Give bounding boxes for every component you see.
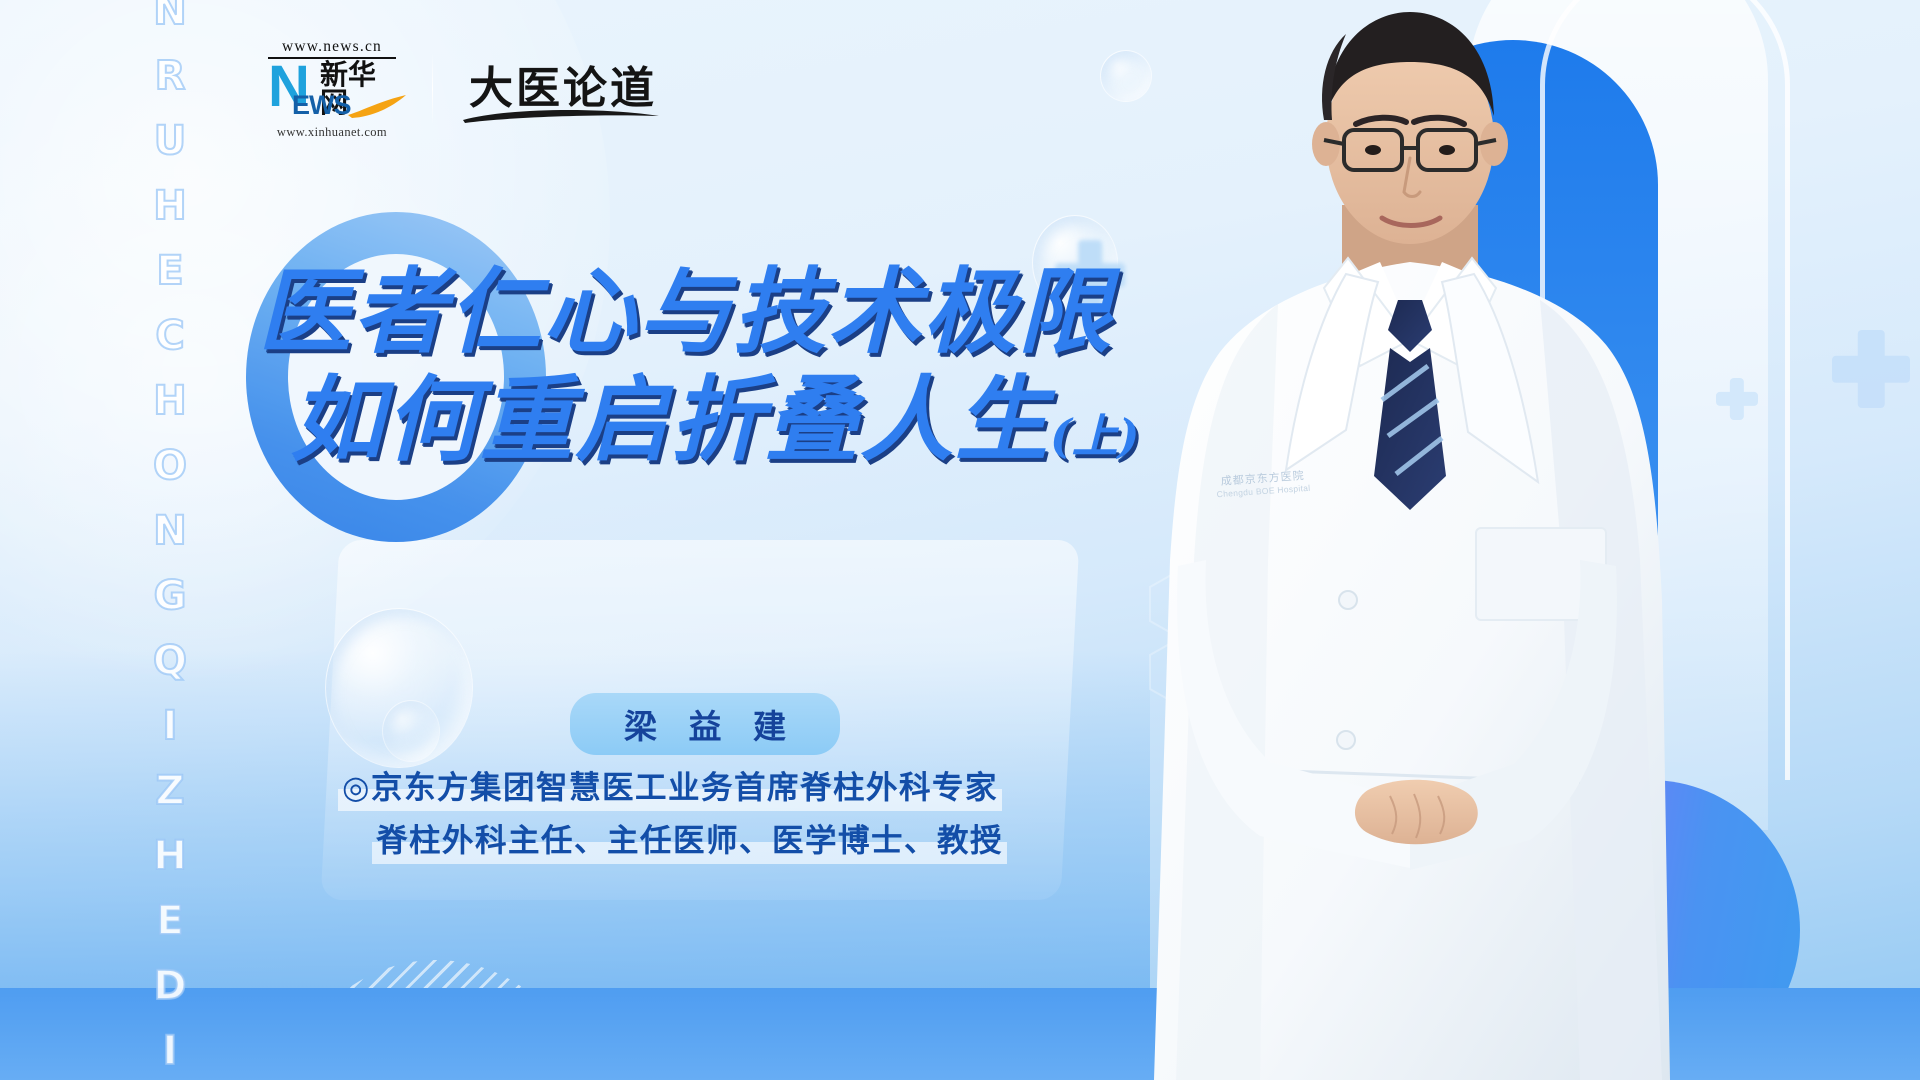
guest-credential-line-2: 脊柱外科主任、主任医师、医学博士、教授 xyxy=(372,815,1007,864)
main-title-part-suffix: (上) xyxy=(1050,409,1140,463)
main-title-block: 医者仁心与技术极限 如何重启折叠人生(上) xyxy=(258,258,1258,474)
vertical-pinyin-decoration: JIXIANRUHECHONGQIZHEDIERENS xyxy=(135,0,205,1080)
program-title-block: 大医论道 xyxy=(469,67,657,111)
guest-credential-line-1: ◎京东方集团智慧医工业务首席脊柱外科专家 xyxy=(338,762,1002,811)
portrait-illustration xyxy=(1110,0,1710,1080)
vertical-pinyin-text: JIXIANRUHECHONGQIZHEDIERENS xyxy=(150,0,190,1080)
header-divider xyxy=(432,52,433,126)
medical-cross-icon xyxy=(1832,330,1910,408)
guest-name-badge: 梁 益 建 xyxy=(570,693,840,755)
medical-cross-icon xyxy=(1716,378,1758,420)
header-bar: www.news.cn N 新华网 EWS www.xinhuanet.com … xyxy=(268,38,657,140)
logo-news-word: EWS xyxy=(292,90,351,121)
main-title-line-1: 医者仁心与技术极限 xyxy=(258,258,1258,366)
logo-wordmark: N 新华网 EWS xyxy=(268,61,396,123)
brush-stroke-underline-icon xyxy=(461,106,661,124)
poster-stage: JIXIANRUHECHONGQIZHEDIERENS xyxy=(0,0,1920,1080)
bubble-icon xyxy=(382,700,440,762)
xinhuanet-logo[interactable]: www.news.cn N 新华网 EWS www.xinhuanet.com xyxy=(268,38,396,140)
program-title: 大医论道 xyxy=(469,67,657,111)
logo-swoosh-icon xyxy=(346,93,408,119)
main-title-line-2-text: 如何重启折叠人生 xyxy=(290,365,1050,474)
hatched-circle-decoration xyxy=(286,960,586,1080)
guest-portrait: 成都京东方医院 Chengdu BOE Hospital xyxy=(1110,0,1710,1080)
bubble-icon xyxy=(325,608,473,768)
main-title-line-2: 如何重启折叠人生(上) xyxy=(290,366,1258,474)
logo-bottom-url: www.xinhuanet.com xyxy=(277,125,387,140)
